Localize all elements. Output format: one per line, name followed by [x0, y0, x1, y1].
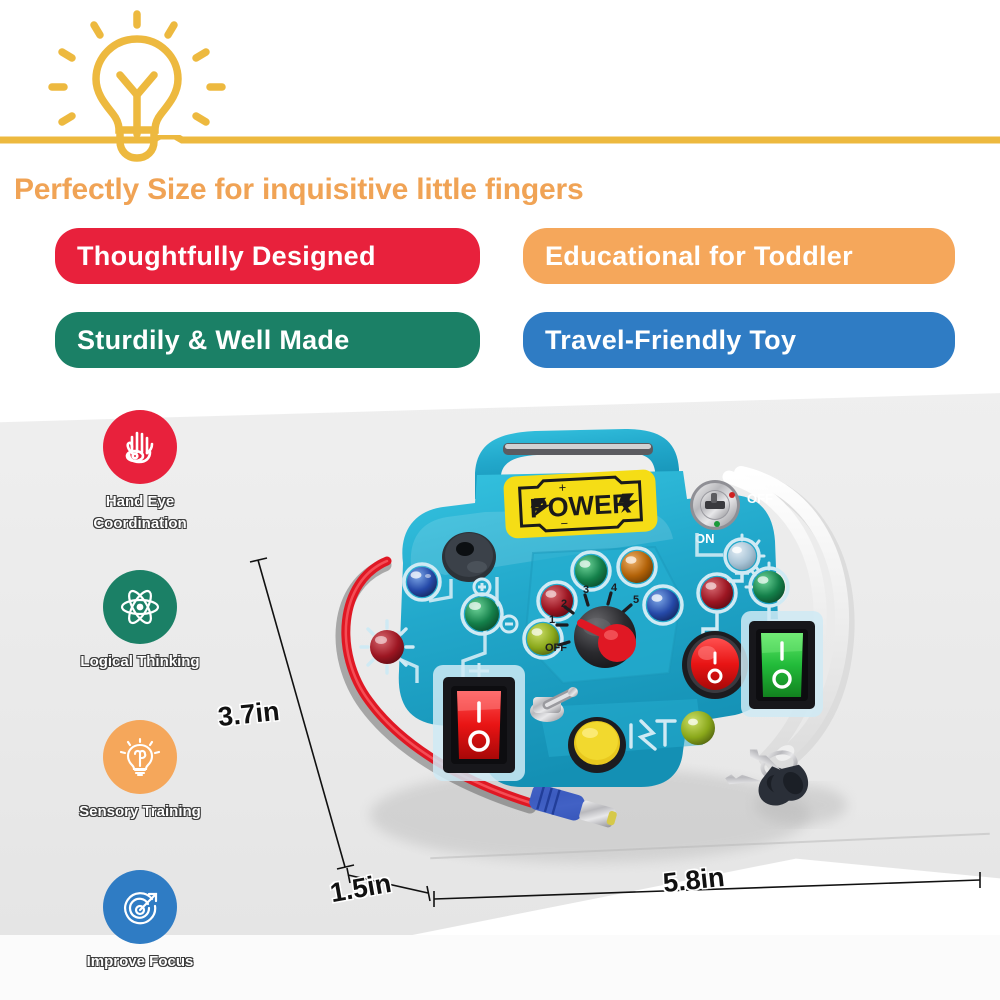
knob-label-3: 3: [583, 584, 589, 596]
power-badge-text: POWER: [529, 488, 632, 523]
page-headline: Perfectly Size for inquisitive little fi…: [14, 173, 583, 207]
svg-text:−: −: [560, 516, 568, 531]
badge-label: Sturdily & Well Made: [77, 325, 350, 356]
key-switch-off-label: OFF: [747, 491, 773, 506]
badge-thoughtfully-designed: Thoughtfully Designed: [55, 228, 480, 284]
product-photo-area: Hand Eye Coordination Logical Thinking: [0, 375, 1000, 1000]
knob-label-5: 5: [633, 594, 639, 606]
badge-sturdily-well-made: Sturdily & Well Made: [55, 312, 480, 368]
lightbulb-idea-icon: [42, 8, 232, 168]
knob-label-4: 4: [611, 582, 618, 594]
knob-label-1: 1: [549, 614, 555, 626]
header-band: [0, 0, 1000, 170]
badge-label: Travel-Friendly Toy: [545, 325, 796, 356]
badge-label: Thoughtfully Designed: [77, 241, 376, 272]
badge-label: Educational for Toddler: [545, 241, 853, 272]
product-toy-switch-board: POWER + − OFF ON: [325, 415, 885, 885]
dimension-height-label: 3.7in: [217, 696, 281, 733]
badge-travel-friendly-toy: Travel-Friendly Toy: [523, 312, 955, 368]
header-divider-line: [0, 135, 1000, 144]
knob-label-off: OFF: [545, 642, 567, 654]
badge-educational-for-toddler: Educational for Toddler: [523, 228, 955, 284]
knob-label-2: 2: [561, 598, 567, 610]
svg-text:+: +: [558, 480, 566, 495]
